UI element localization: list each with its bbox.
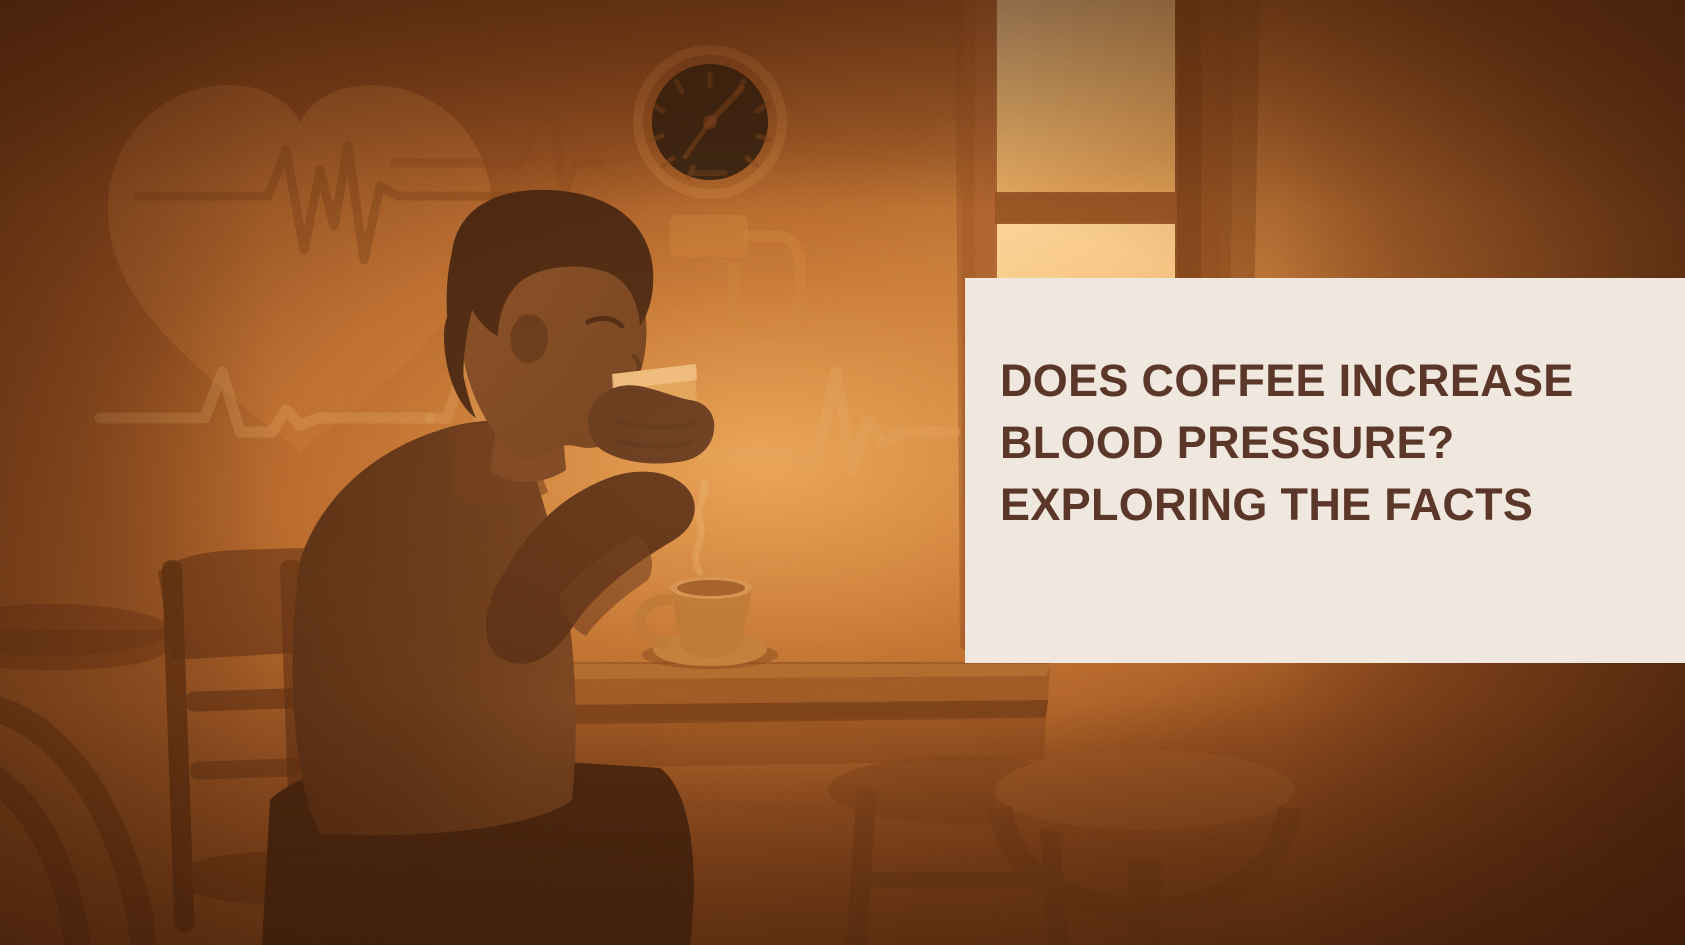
headline-text-block: DOES COFFEE INCREASE BLOOD PRESSURE? EXP… bbox=[1000, 350, 1667, 536]
headline-line-1: DOES COFFEE INCREASE bbox=[1000, 350, 1667, 412]
headline-line-3: EXPLORING THE FACTS bbox=[1000, 474, 1667, 536]
headline-panel: DOES COFFEE INCREASE BLOOD PRESSURE? EXP… bbox=[965, 278, 1685, 663]
headline-line-2: BLOOD PRESSURE? bbox=[1000, 412, 1667, 474]
illustration-canvas: DOES COFFEE INCREASE BLOOD PRESSURE? EXP… bbox=[0, 0, 1685, 945]
